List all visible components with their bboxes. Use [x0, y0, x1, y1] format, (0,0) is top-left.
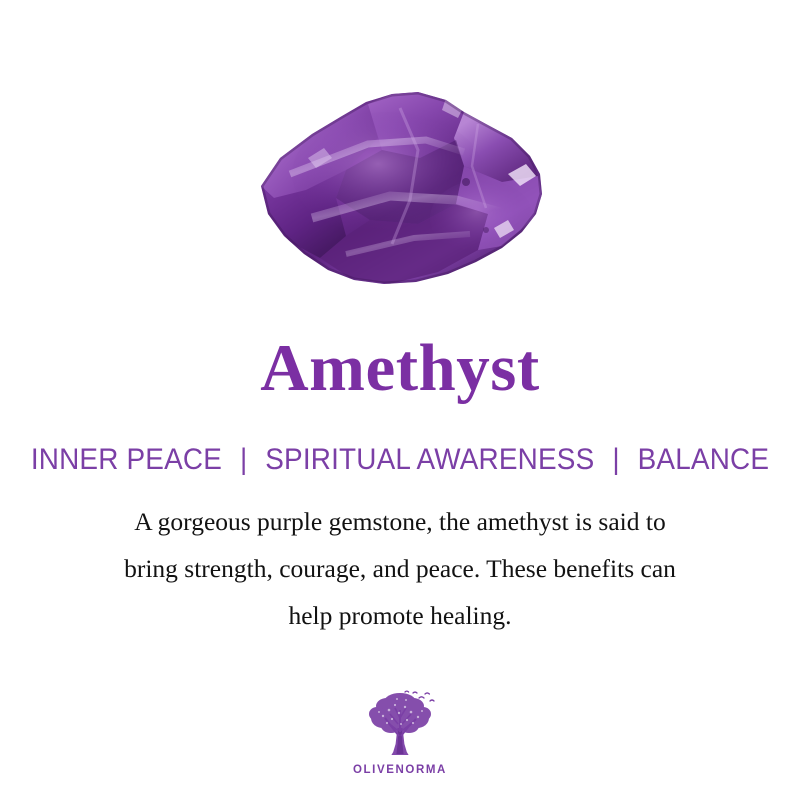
description-line: help promote healing. — [55, 592, 745, 639]
keyword-balance: BALANCE — [638, 443, 770, 476]
brand-logo: OLIVENORMA — [0, 688, 800, 776]
keyword-inner-peace: INNER PEACE — [31, 443, 222, 476]
page-title: Amethyst — [0, 333, 800, 403]
keyword-line: INNER PEACE | SPIRITUAL AWARENESS | BALA… — [28, 443, 772, 476]
brand-wordmark: OLIVENORMA — [353, 764, 447, 776]
description-line: A gorgeous purple gemstone, the amethyst… — [55, 498, 745, 545]
hero-image-area — [0, 0, 800, 320]
amethyst-crystal-image — [250, 78, 550, 293]
description-line: bring strength, courage, and peace. Thes… — [55, 545, 745, 592]
keyword-separator: | — [602, 443, 630, 476]
description-text: A gorgeous purple gemstone, the amethyst… — [55, 498, 745, 639]
amethyst-info-card: Amethyst INNER PEACE | SPIRITUAL AWARENE… — [0, 0, 800, 800]
keyword-spiritual-awareness: SPIRITUAL AWARENESS — [265, 443, 594, 476]
tree-icon — [361, 688, 439, 760]
keyword-separator: | — [230, 443, 258, 476]
